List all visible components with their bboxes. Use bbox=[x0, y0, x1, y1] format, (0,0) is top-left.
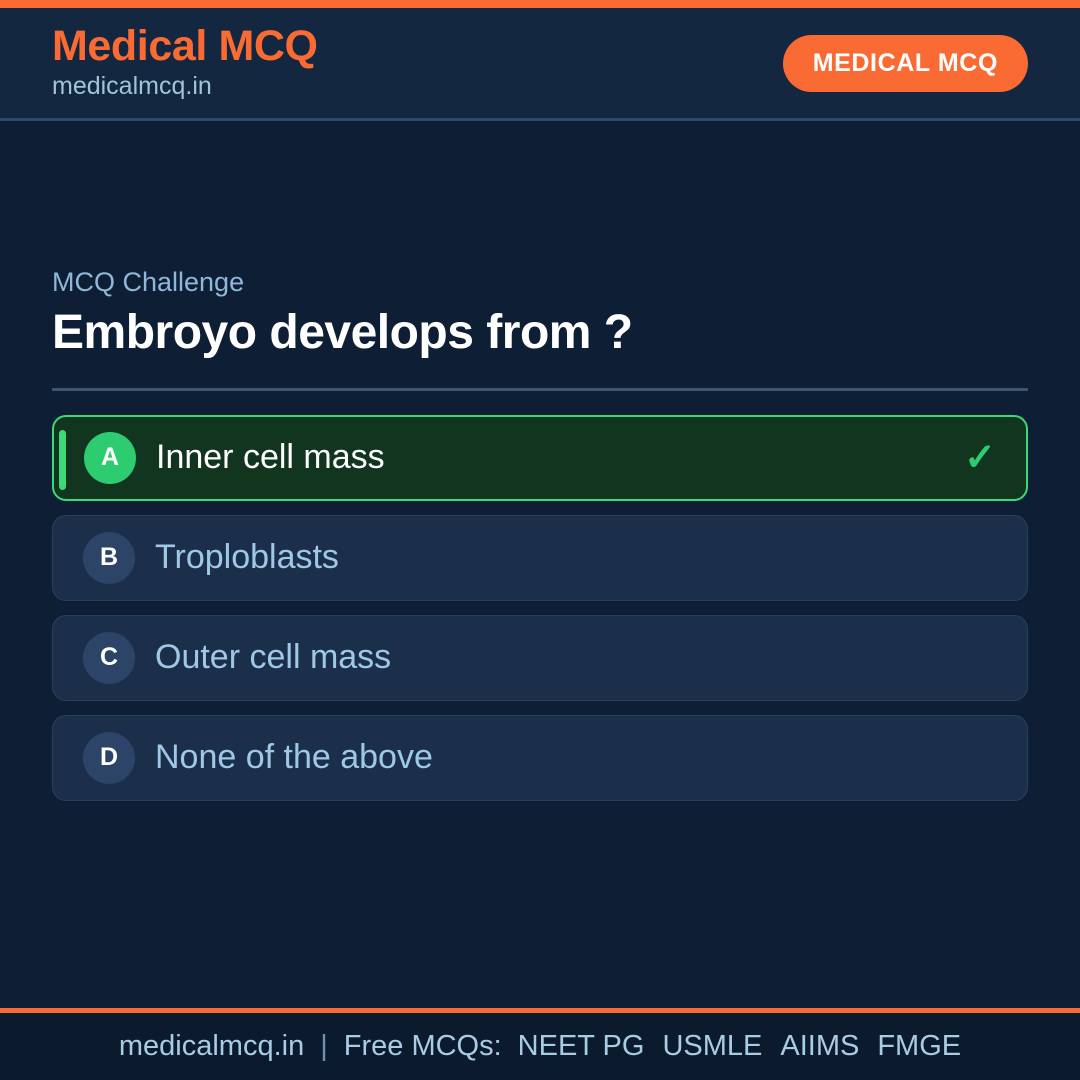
footer-exam-usmle: USMLE bbox=[662, 1030, 762, 1063]
footer-prefix: Free MCQs: bbox=[344, 1030, 502, 1063]
footer-exam-neet-pg: NEET PG bbox=[518, 1030, 645, 1063]
options-list: A Inner cell mass ✓ B Troploblasts ✓ C O… bbox=[52, 415, 1028, 801]
question-text: Embroyo develops from ? bbox=[52, 305, 1028, 362]
page-header: Medical MCQ medicalmcq.in MEDICAL MCQ bbox=[0, 8, 1080, 121]
footer-exam-fmge: FMGE bbox=[877, 1030, 961, 1063]
footer-site[interactable]: medicalmcq.in bbox=[119, 1030, 304, 1063]
main-content: MCQ Challenge Embroyo develops from ? A … bbox=[0, 121, 1080, 1008]
page-footer: medicalmcq.in | Free MCQs: NEET PG USMLE… bbox=[0, 1008, 1080, 1080]
option-c-label: Outer cell mass bbox=[155, 639, 961, 676]
footer-exam-aiims: AIIMS bbox=[780, 1030, 859, 1063]
question-block: MCQ Challenge Embroyo develops from ? A … bbox=[52, 266, 1028, 800]
option-b[interactable]: B Troploblasts ✓ bbox=[52, 515, 1028, 601]
question-eyebrow: MCQ Challenge bbox=[52, 266, 1028, 298]
top-accent-rule bbox=[0, 0, 1080, 8]
footer-content: medicalmcq.in | Free MCQs: NEET PG USMLE… bbox=[119, 1030, 961, 1063]
option-c[interactable]: C Outer cell mass ✓ bbox=[52, 615, 1028, 701]
footer-separator: | bbox=[320, 1030, 328, 1063]
header-badge: MEDICAL MCQ bbox=[783, 35, 1028, 92]
question-divider bbox=[52, 388, 1028, 391]
footer-exam-list: NEET PG USMLE AIIMS FMGE bbox=[518, 1030, 961, 1063]
brand-block: Medical MCQ medicalmcq.in bbox=[52, 24, 318, 102]
option-b-label: Troploblasts bbox=[155, 539, 961, 576]
check-icon: ✓ bbox=[960, 435, 1000, 480]
option-d[interactable]: D None of the above ✓ bbox=[52, 715, 1028, 801]
brand-subtitle: medicalmcq.in bbox=[52, 71, 318, 102]
option-a[interactable]: A Inner cell mass ✓ bbox=[52, 415, 1028, 501]
option-b-key: B bbox=[83, 532, 135, 584]
option-a-key: A bbox=[84, 432, 136, 484]
mcq-card: Medical MCQ medicalmcq.in MEDICAL MCQ MC… bbox=[0, 0, 1080, 1080]
option-a-label: Inner cell mass bbox=[156, 439, 960, 476]
brand-title: Medical MCQ bbox=[52, 24, 318, 70]
option-d-label: None of the above bbox=[155, 739, 961, 776]
option-d-key: D bbox=[83, 732, 135, 784]
option-c-key: C bbox=[83, 632, 135, 684]
correct-accent-bar bbox=[59, 430, 66, 490]
